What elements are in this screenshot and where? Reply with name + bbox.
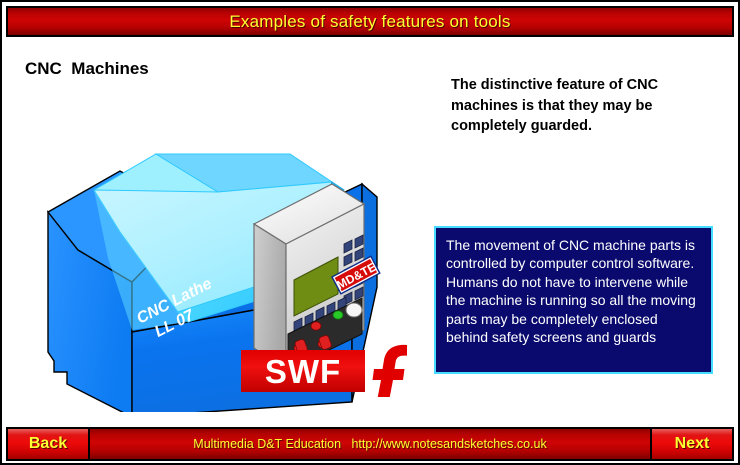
next-button[interactable]: Next	[650, 429, 732, 459]
footer-credit: Multimedia D&T Education http://www.note…	[90, 429, 650, 459]
swf-logo-badge: SWF	[241, 350, 365, 392]
green-indicator-light	[333, 311, 343, 319]
next-button-label: Next	[675, 435, 710, 453]
swf-label: SWF	[265, 355, 341, 388]
title-bar: Examples of safety features on tools	[6, 6, 734, 37]
flash-f-icon	[370, 343, 410, 397]
footer-bar: Back Multimedia D&T Education http://www…	[6, 427, 734, 461]
slide-page: Examples of safety features on tools CNC…	[0, 0, 740, 465]
intro-paragraph: The distinctive feature of CNC machines …	[451, 75, 713, 137]
cnc-dial	[346, 303, 362, 317]
back-button[interactable]: Back	[8, 429, 90, 459]
info-callout-text: The movement of CNC machine parts is con…	[446, 236, 702, 347]
red-button-1	[311, 322, 321, 330]
footer-credit-text: Multimedia D&T Education http://www.note…	[193, 437, 546, 451]
back-button-label: Back	[29, 435, 67, 453]
info-callout-box: The movement of CNC machine parts is con…	[434, 226, 713, 374]
page-title: Examples of safety features on tools	[229, 12, 510, 32]
